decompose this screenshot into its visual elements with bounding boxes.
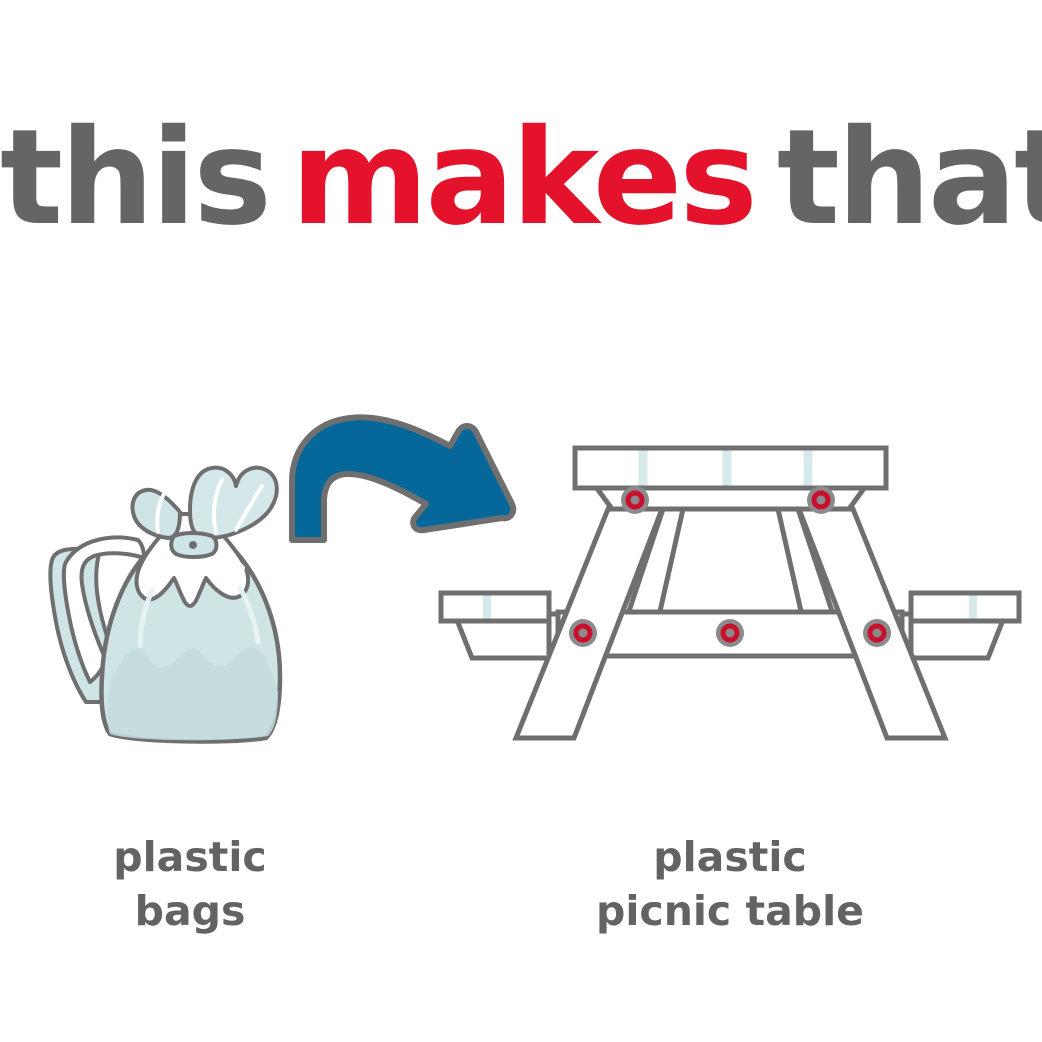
bench-right-seat: [911, 593, 1019, 621]
bolt-beam-right: [863, 619, 891, 647]
bolt-beam-left: [569, 619, 597, 647]
poster-canvas: thismakesthat: [0, 0, 1042, 1042]
headline-word-that: that: [777, 101, 1042, 255]
page-title: thismakesthat: [0, 112, 1042, 244]
caption-left-line1: plastic: [40, 830, 340, 884]
caption-right-line1: plastic: [430, 830, 1030, 884]
bolt-beam-center: [716, 619, 744, 647]
caption-plastic-bags: plastic bags: [40, 830, 340, 938]
headline-word-makes: makes: [291, 101, 755, 255]
bag-group: [50, 468, 280, 742]
bag-bow-right: [190, 468, 277, 538]
bag-knot-center: [189, 541, 197, 549]
picnic-table-illustration: [430, 430, 1030, 770]
bench-left-seat: [441, 593, 549, 621]
caption-right-line2: picnic table: [430, 884, 1030, 938]
bench-left-support: [457, 620, 549, 658]
headline-word-this: this: [0, 101, 269, 255]
bolt-top-right: [807, 486, 835, 514]
bag-body-shade: [107, 647, 278, 740]
picnic-table-group: [441, 448, 1019, 738]
bench-right-support: [911, 620, 1003, 658]
caption-plastic-picnic-table: plastic picnic table: [430, 830, 1030, 938]
caption-left-line2: bags: [40, 884, 340, 938]
bolt-top-left: [621, 486, 649, 514]
